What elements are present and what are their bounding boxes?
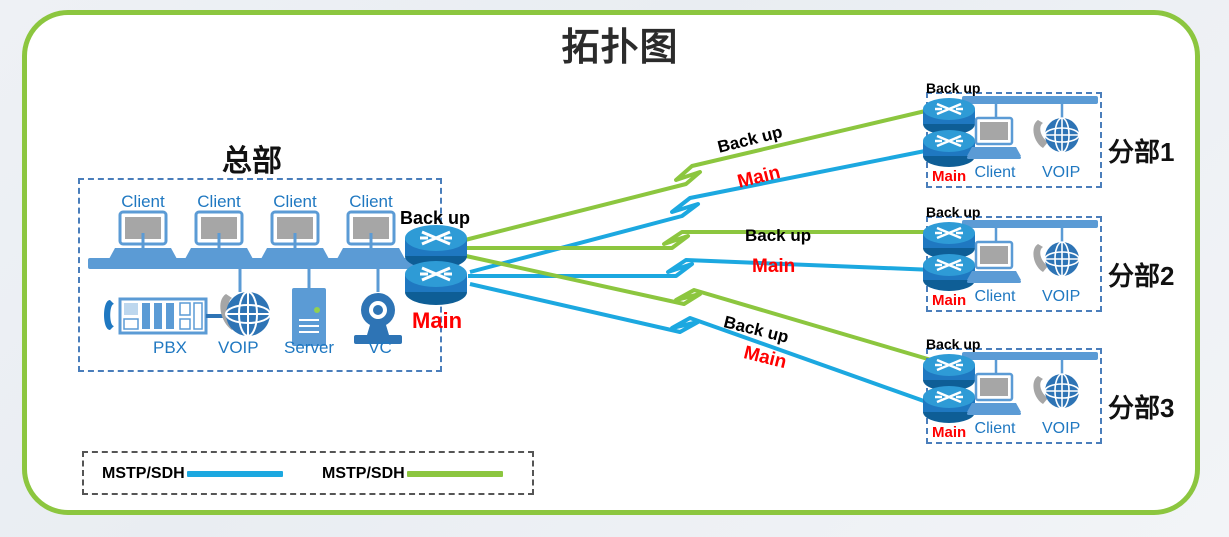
laptop-icon: [967, 374, 1021, 415]
branch3-router-main-label: Main: [932, 424, 966, 441]
voip-icon: [1033, 374, 1079, 408]
topology-diagram: 拓扑图 总部: [0, 0, 1229, 537]
branch3-voip-label: VOIP: [1042, 420, 1076, 438]
router-icon-main: [923, 386, 975, 423]
legend-label: MSTP/SDH: [102, 465, 185, 483]
branch3-title: 分部3: [1108, 388, 1174, 425]
router-icon-backup: [923, 354, 975, 391]
legend: MSTP/SDH MSTP/SDH: [82, 451, 534, 495]
branch3-router-backup-label: Back up: [926, 336, 980, 352]
legend-swatch-blue: [187, 471, 283, 477]
branch3-client-label: Client: [972, 420, 1018, 438]
legend-label: MSTP/SDH: [322, 465, 405, 483]
legend-item-mstp-blue: MSTP/SDH: [102, 465, 283, 483]
legend-item-mstp-green: MSTP/SDH: [322, 465, 503, 483]
legend-swatch-green: [407, 471, 503, 477]
